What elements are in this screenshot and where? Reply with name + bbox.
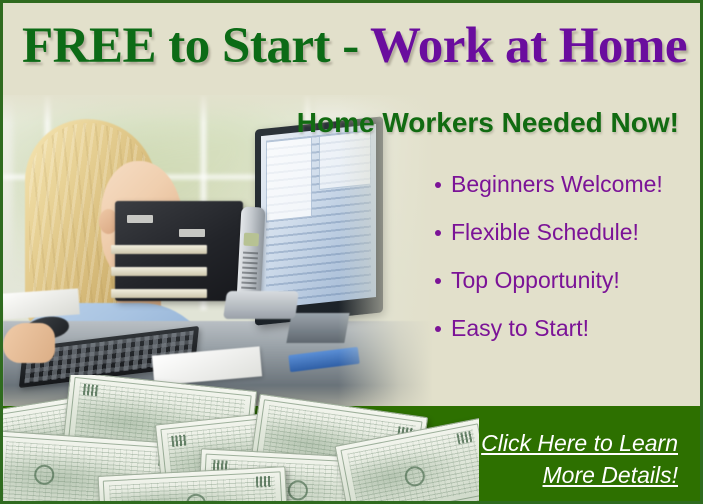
- subheading: Home Workers Needed Now!: [297, 107, 679, 139]
- bullet-label: Flexible Schedule!: [451, 219, 639, 245]
- headline: FREE to Start - Work at Home: [3, 17, 703, 75]
- bill-corner-numeral: [171, 434, 187, 447]
- list-item: Easy to Start!: [433, 315, 693, 342]
- cta-line-2[interactable]: More Details!: [543, 459, 678, 491]
- headline-green-part: FREE to Start -: [22, 18, 359, 74]
- cta-link[interactable]: Click Here to Learn More Details!: [408, 427, 678, 491]
- bullet-label: Beginners Welcome!: [451, 171, 663, 197]
- advertisement-banner: FREE to Start - Work at Home Home Worker…: [0, 0, 703, 504]
- photo-edge-fade: [3, 95, 433, 407]
- bill-corner-numeral: [256, 476, 272, 488]
- bill-seal: [186, 493, 207, 504]
- list-item: Flexible Schedule!: [433, 219, 693, 246]
- list-item: Beginners Welcome!: [433, 171, 693, 198]
- headline-purple-part: Work at Home: [370, 18, 687, 74]
- bill-seal: [34, 464, 55, 485]
- bullet-label: Top Opportunity!: [451, 267, 620, 293]
- office-photo: [3, 95, 433, 407]
- bullet-label: Easy to Start!: [451, 315, 589, 341]
- cta-line-1[interactable]: Click Here to Learn: [481, 427, 678, 459]
- bill-corner-numeral: [83, 384, 99, 397]
- benefits-list: Beginners Welcome! Flexible Schedule! To…: [433, 171, 693, 363]
- list-item: Top Opportunity!: [433, 267, 693, 294]
- bill-seal: [287, 480, 308, 501]
